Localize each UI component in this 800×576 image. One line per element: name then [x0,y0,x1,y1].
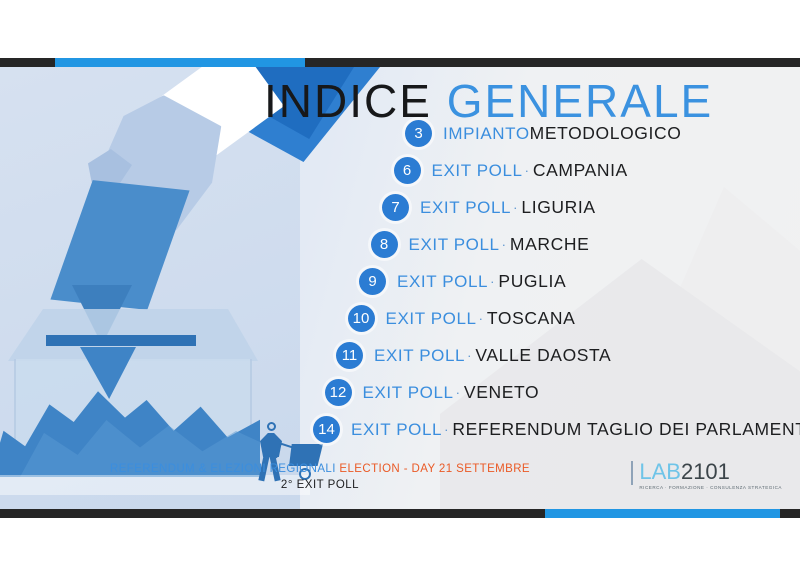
table-of-contents: 3IMPIANTOMETODOLOGICO6EXIT POLL·CAMPANIA… [0,120,800,450]
logo-brand-lab: LAB [639,459,681,484]
footer-event-name: REFERENDUM & ELEZIONI REGIONALI [110,463,336,475]
toc-item-separator: · [456,385,460,400]
toc-item[interactable]: 8EXIT POLL·MARCHE [371,231,590,258]
lab2101-logo: LAB2101 RICERCA · FORMAZIONE · CONSULENZ… [631,461,782,491]
logo-brand-number: 2101 [681,459,730,484]
logo-tagline: RICERCA · FORMAZIONE · CONSULENZA STRATE… [639,486,782,491]
toc-item-separator: · [525,163,529,178]
toc-item-label: EXIT POLL [397,272,488,292]
logo-wordmark: LAB2101 [639,461,782,483]
toc-item-value: MARCHE [510,234,589,255]
slide-footer: REFERENDUM & ELEZIONI REGIONALI ELECTION… [0,463,800,507]
toc-item-number: 12 [325,379,352,406]
toc-item-separator: · [467,348,471,363]
toc-item[interactable]: 3IMPIANTOMETODOLOGICO [405,120,681,147]
toc-item[interactable]: 7EXIT POLL·LIGURIA [382,194,596,221]
toc-item-number: 10 [348,305,375,332]
toc-item-separator: · [479,311,483,326]
toc-item-label: IMPIANTO [443,124,530,144]
presentation-slide: INDICE GENERALE 3IMPIANTOMETODOLOGICO6EX… [0,58,800,518]
toc-item[interactable]: 9EXIT POLL·PUGLIA [359,268,566,295]
logo-text: LAB2101 RICERCA · FORMAZIONE · CONSULENZ… [639,461,782,491]
footer-line-2: 2° EXIT POLL [0,479,640,491]
toc-item-number: 14 [313,416,340,443]
toc-item-value: LIGURIA [521,197,595,218]
toc-item-separator: · [513,200,517,215]
footer-election-day: ELECTION - DAY 21 SETTEMBRE [339,463,530,475]
toc-item-value: VENETO [464,382,539,403]
toc-item-number: 9 [359,268,386,295]
toc-item-number: 11 [336,342,363,369]
toc-item-value: REFERENDUM TAGLIO DEI PARLAMENTARI [452,419,800,440]
bottom-rail-blue-segment [545,509,780,518]
toc-item-value: TOSCANA [487,308,575,329]
top-rail-blue-segment [55,58,305,67]
logo-divider [631,461,633,485]
toc-item-number: 6 [394,157,421,184]
footer-line-1: REFERENDUM & ELEZIONI REGIONALI ELECTION… [0,463,640,475]
toc-item-number: 8 [371,231,398,258]
top-rail [0,58,800,67]
toc-item-number: 3 [405,120,432,147]
toc-item-separator: · [502,237,506,252]
toc-item-label: EXIT POLL [432,161,523,181]
toc-item-label: EXIT POLL [409,235,500,255]
toc-item-value: VALLE DAOSTA [475,345,611,366]
toc-item[interactable]: 11EXIT POLL·VALLE DAOSTA [336,342,611,369]
toc-item-value: METODOLOGICO [530,123,682,144]
toc-item-label: EXIT POLL [420,198,511,218]
bottom-rail [0,509,800,518]
toc-item-number: 7 [382,194,409,221]
toc-item[interactable]: 14EXIT POLL·REFERENDUM TAGLIO DEI PARLAM… [313,416,800,443]
toc-item-label: EXIT POLL [374,346,465,366]
toc-item-separator: · [490,274,494,289]
toc-item-value: CAMPANIA [533,160,628,181]
toc-item-label: EXIT POLL [351,420,442,440]
toc-item[interactable]: 6EXIT POLL·CAMPANIA [394,157,628,184]
toc-item[interactable]: 10EXIT POLL·TOSCANA [348,305,576,332]
toc-item-separator: · [444,422,448,437]
toc-item-label: EXIT POLL [386,309,477,329]
toc-item-value: PUGLIA [498,271,566,292]
toc-item[interactable]: 12EXIT POLL·VENETO [325,379,540,406]
toc-item-label: EXIT POLL [363,383,454,403]
